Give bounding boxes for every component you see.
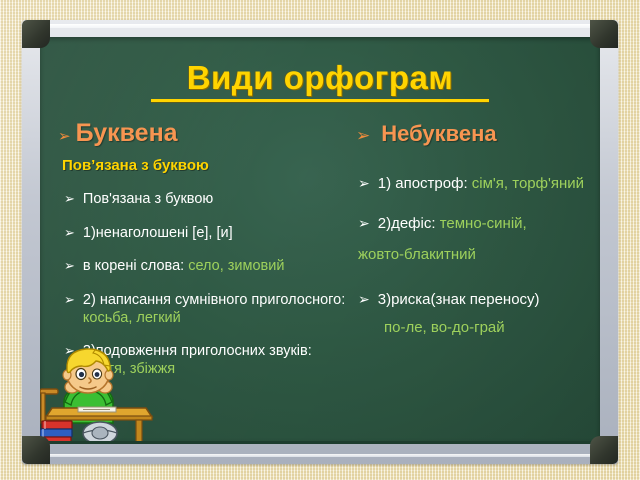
item-label: 3)риска(знак переносу) xyxy=(378,291,540,308)
slide-title: Види орфограм xyxy=(187,59,454,96)
list-item: ➢ 1) апостроф: сім'я, торф'яний xyxy=(358,175,600,193)
list-item: ➢ 3)риска(знак переносу) xyxy=(358,291,600,309)
arrow-bullet-icon: ➢ xyxy=(64,293,75,306)
continuation-line: жовто-блакитний xyxy=(358,246,600,263)
frame-corner-top-right xyxy=(590,20,618,48)
title-underline xyxy=(151,99,489,102)
arrow-bullet-icon: ➢ xyxy=(58,129,71,144)
list-item-text: 2)дефіс: темно-синій, xyxy=(378,215,527,233)
arrow-bullet-icon: ➢ xyxy=(64,192,75,205)
right-heading: Небуквена xyxy=(381,121,496,147)
list-item: ➢ 1)ненаголошені [е], [и] xyxy=(64,225,354,243)
frame-corner-bottom-right xyxy=(590,436,618,464)
left-column: ➢ Буквена Пов’язана з буквою ➢ Пов'язана… xyxy=(58,119,354,379)
left-heading-row: ➢ Буквена xyxy=(58,119,354,148)
item-label: в корені слова: xyxy=(83,258,188,274)
frame-top-highlight xyxy=(32,24,608,28)
arrow-bullet-icon: ➢ xyxy=(358,216,370,230)
list-item: ➢ 2) написання сумнівного приголосного: … xyxy=(64,292,354,327)
arrow-bullet-icon: ➢ xyxy=(358,176,370,190)
list-item: ➢ в корені слова: село, зимовий xyxy=(64,258,354,276)
item-label: 1)ненаголошені [е], [и] xyxy=(83,225,233,241)
right-item-list: ➢ 1) апостроф: сім'я, торф'яний ➢ 2)дефі… xyxy=(356,175,600,234)
slide-title-block: Види орфограм xyxy=(40,59,600,102)
right-column: ➢ Небуквена ➢ 1) апостроф: сім'я, торф'я… xyxy=(356,119,600,336)
arrow-bullet-icon: ➢ xyxy=(356,127,370,144)
left-heading: Буквена xyxy=(76,119,178,148)
list-item-text: 1) апостроф: сім'я, торф'яний xyxy=(378,175,584,193)
schoolboy-at-desk-illustration xyxy=(40,345,166,443)
item-label: 1) апостроф: xyxy=(378,175,472,192)
item-label: 2) написання сумнівного приголосного: xyxy=(83,292,345,308)
board-surface: Види орфограм ➢ Буквена Пов’язана з букв… xyxy=(40,37,600,444)
list-item-text: 3)риска(знак переносу) xyxy=(378,291,540,309)
item-example: косьба, легкий xyxy=(83,310,181,326)
item-example: село, зимовий xyxy=(188,258,284,274)
right-item-list-2: ➢ 3)риска(знак переносу) xyxy=(356,291,600,309)
frame-bottom-highlight xyxy=(32,454,608,457)
arrow-bullet-icon: ➢ xyxy=(358,292,370,306)
whiteboard: Види орфограм ➢ Буквена Пов’язана з букв… xyxy=(22,20,618,464)
item-label: Пов'язана з буквою xyxy=(83,191,213,207)
list-item-text: 2) написання сумнівного приголосного: ко… xyxy=(83,292,354,327)
last-example-line: по-ле, во-до-грай xyxy=(384,319,600,336)
arrow-bullet-icon: ➢ xyxy=(64,226,75,239)
item-example: сім'я, торф'яний xyxy=(472,175,584,192)
frame-corner-bottom-left xyxy=(22,436,50,464)
arrow-bullet-icon: ➢ xyxy=(64,259,75,272)
left-subheading: Пов’язана з буквою xyxy=(62,157,354,174)
list-item: ➢ Пов'язана з буквою xyxy=(64,191,354,209)
item-example: темно-синій, xyxy=(440,215,527,232)
list-item-text: 1)ненаголошені [е], [и] xyxy=(83,225,233,243)
list-item-text: в корені слова: село, зимовий xyxy=(83,258,285,276)
right-heading-row: ➢ Небуквена xyxy=(356,121,600,147)
frame-corner-top-left xyxy=(22,20,50,48)
list-item-text: Пов'язана з буквою xyxy=(83,191,213,209)
item-label: 2)дефіс: xyxy=(378,215,440,232)
list-item: ➢ 2)дефіс: темно-синій, xyxy=(358,215,600,233)
